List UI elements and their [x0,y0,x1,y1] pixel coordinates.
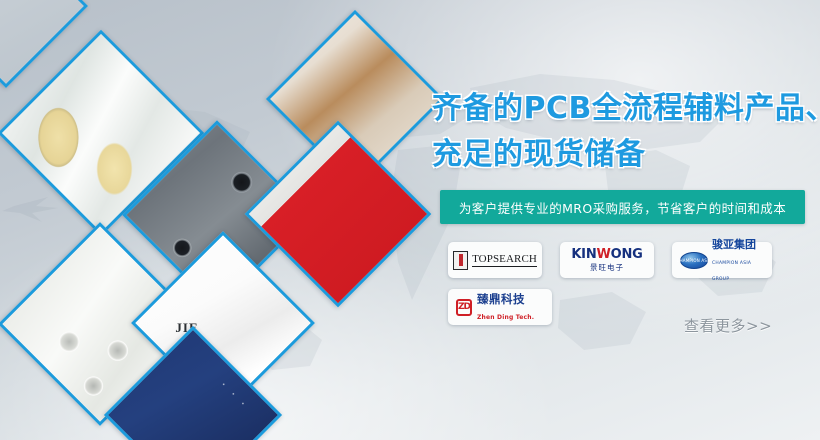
topsearch-wordmark: TOPSEARCH [472,253,537,267]
champion-asia-wordmark-cn: 骏亚集团 [712,238,756,251]
view-more-link[interactable]: 查看更多>> [684,315,772,336]
hero-banner: JIE 齐备的PCB全流程辅料产品、 充足的现货储备 为客户提供专业的MRO采购… [0,0,820,440]
zhen-ding-wordmark-cn: 臻鼎科技 [477,292,525,306]
product-collage: JIE [0,0,440,440]
hero-subtitle-text: 为客户提供专业的MRO采购服务，节省客户的时间和成本 [459,198,786,217]
globe-icon: CHAMPION ASIA [680,252,708,269]
zd-monogram-icon: ZD [456,299,472,316]
headline-line-1: 齐备的PCB全流程辅料产品、 [432,91,820,126]
globe-icon-text: CHAMPION ASIA [677,258,712,263]
collage-tile-colored-separator-sheets [245,121,432,308]
partner-logo-row-1: TOPSEARCH KINWONG 景旺电子 CHAMPION ASIA 骏亚集… [448,242,810,278]
zd-monogram-text: ZD [458,302,470,312]
kinwong-wordmark: KINWONG [571,248,642,261]
zhen-ding-wordmark-en: Zhen Ding Tech. [477,314,534,321]
kinwong-w-icon: W [597,247,611,262]
kinwong-subtext: 景旺电子 [571,264,642,272]
champion-asia-wordmark-en: CHAMPION ASIA GROUP [712,261,751,282]
hero-headline: 齐备的PCB全流程辅料产品、 充足的现货储备 [432,86,812,178]
partner-logo-champion-asia[interactable]: CHAMPION ASIA 骏亚集团 CHAMPION ASIA GROUP [672,242,772,278]
hero-subtitle-bar: 为客户提供专业的MRO采购服务，节省客户的时间和成本 [440,190,805,224]
partner-logo-zhen-ding[interactable]: ZD 臻鼎科技 Zhen Ding Tech. [448,289,552,325]
topsearch-mark-icon [453,251,468,270]
headline-line-2: 充足的现货储备 [432,132,812,178]
partner-logo-kinwong[interactable]: KINWONG 景旺电子 [560,242,654,278]
partner-logo-topsearch[interactable]: TOPSEARCH [448,242,542,278]
